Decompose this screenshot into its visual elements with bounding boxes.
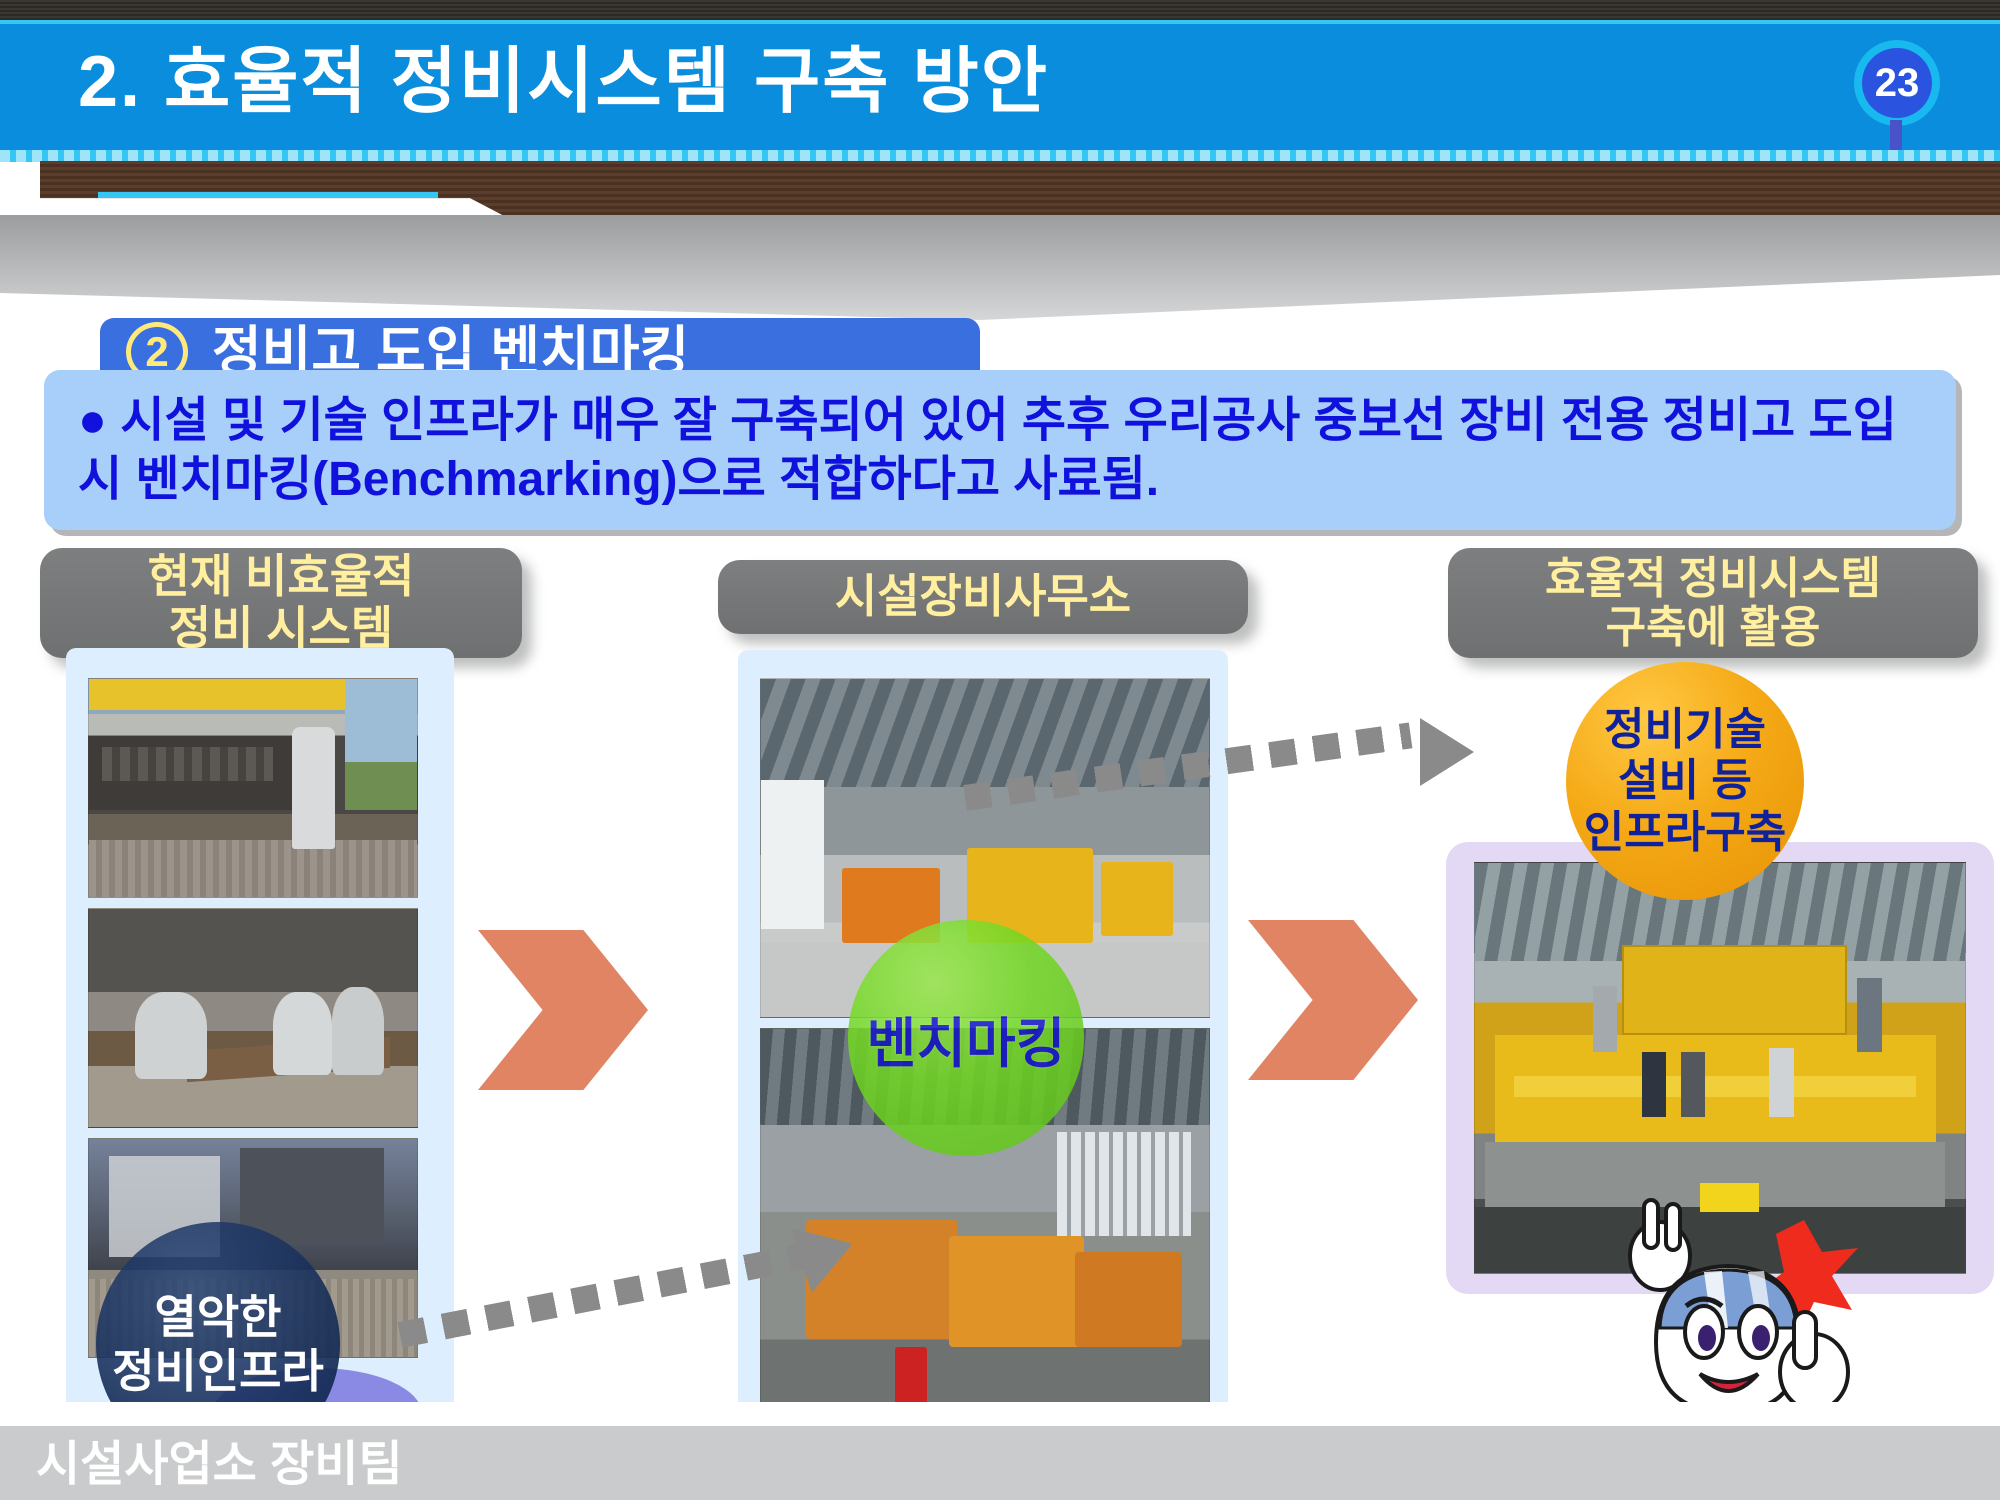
brown-ribbon-decor [40, 161, 2000, 219]
photo-rail-vehicle-exterior [88, 678, 418, 898]
callout-infrastructure: 정비기술 설비 등 인프라구축 [1566, 662, 1804, 900]
callout-poor-infra-label: 열악한 정비인프라 [112, 1290, 324, 1399]
callout-benchmarking-label: 벤치마킹 [867, 999, 1066, 1078]
column-heading-right-line1: 효율적 정비시스템 [1545, 554, 1881, 603]
callout-poor-line2: 정비인프라 [112, 1344, 324, 1398]
bullet-icon: ● [78, 394, 107, 447]
dashed-rule-divider [0, 150, 2000, 162]
column-heading-right: 효율적 정비시스템 구축에 활용 [1448, 548, 1978, 658]
page-number-badge: 23 [1854, 40, 1940, 126]
column-heading-left-line1: 현재 비효율적 [148, 551, 415, 603]
ribbon-cyan-edge [98, 192, 438, 198]
body-text: ● 시설 및 기술 인프라가 매우 잘 구축되어 있어 추후 우리공사 중보선 … [78, 392, 1918, 509]
column-heading-middle: 시설장비사무소 [718, 560, 1248, 634]
column-heading-right-line2: 구축에 활용 [1545, 603, 1881, 652]
footer-text: 시설사업소 장비팀 [36, 1424, 403, 1494]
callout-infra-line2: 설비 등 [1584, 755, 1786, 806]
footer-white-gap [0, 1402, 2000, 1426]
train-mascot-icon [1608, 1160, 1858, 1430]
slide-canvas: 2. 효율적 정비시스템 구축 방안 23 2 정비고 도입 벤치마킹 ● 시설… [0, 0, 2000, 1500]
photo-workers-at-track [88, 908, 418, 1128]
callout-infra-line1: 정비기술 [1584, 704, 1786, 755]
top-decor-strip [0, 0, 2000, 22]
callout-infra-line3: 인프라구축 [1584, 807, 1786, 858]
page-title: 2. 효율적 정비시스템 구축 방안 [78, 22, 1049, 127]
callout-poor-line1: 열악한 [112, 1290, 324, 1344]
callout-infrastructure-label: 정비기술 설비 등 인프라구축 [1584, 704, 1786, 857]
body-text-content: 시설 및 기술 인프라가 매우 잘 구축되어 있어 추후 우리공사 중보선 장비… [78, 394, 1897, 506]
column-heading-left-line2: 정비 시스템 [148, 603, 415, 655]
column-heading-left: 현재 비효율적 정비 시스템 [40, 548, 522, 658]
callout-benchmarking: 벤치마킹 [848, 920, 1084, 1156]
page-number-text: 23 [1862, 48, 1932, 118]
